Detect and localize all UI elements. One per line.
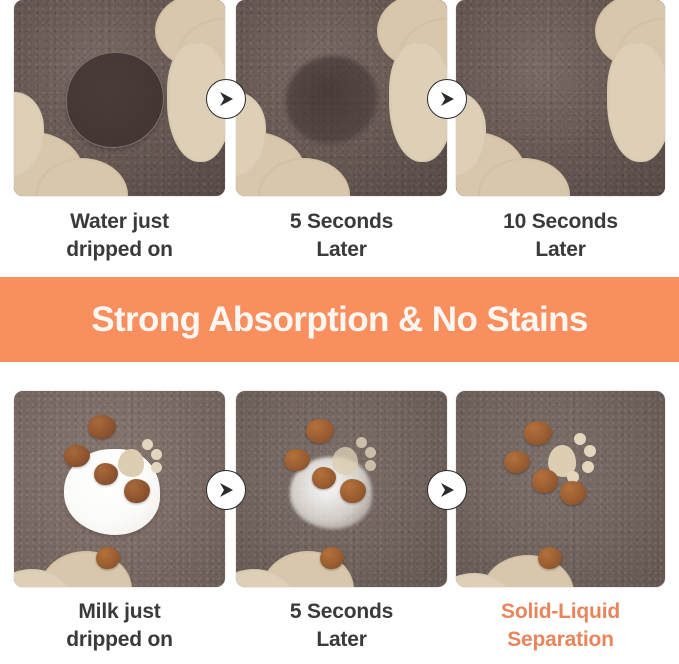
paw-pad (118, 449, 144, 477)
milk-sequence-captions: Milk just dripped on 5 Seconds Later Sol… (0, 598, 679, 664)
panel-water-just-dripped (14, 0, 225, 196)
water-sequence-captions: Water just dripped on 5 Seconds Later 10… (0, 208, 679, 274)
caption-line: Later (236, 626, 447, 654)
caption-line: 5 Seconds (236, 208, 447, 236)
caption-line: dripped on (14, 626, 225, 654)
panel-milk-5-seconds (236, 391, 447, 587)
caption-line: Later (236, 236, 447, 264)
paw-toe (584, 445, 596, 457)
bone-pattern-shape (607, 42, 665, 162)
paw-toe (151, 462, 162, 473)
play-arrow-icon (206, 79, 246, 119)
caption-line: Water just (14, 208, 225, 236)
paw-toe (356, 437, 367, 448)
headline-banner: Strong Absorption & No Stains (0, 277, 679, 362)
caption-line: Later (456, 236, 665, 264)
product-infographic: Water just dripped on 5 Seconds Later 10… (0, 0, 679, 655)
play-arrow-icon (427, 79, 467, 119)
water-absorption-sequence (0, 0, 679, 196)
headline-text: Strong Absorption & No Stains (91, 300, 588, 340)
panel-water-10-seconds (456, 0, 665, 196)
caption-milk-5-seconds: 5 Seconds Later (236, 598, 447, 654)
paw-toe (574, 433, 586, 445)
caption-water-just-dripped: Water just dripped on (14, 208, 225, 264)
caption-solid-liquid-separation: Solid-Liquid Separation (456, 598, 665, 654)
caption-line: 10 Seconds (456, 208, 665, 236)
caption-line: 5 Seconds (236, 598, 447, 626)
caption-line: Milk just (14, 598, 225, 626)
paw-toe (582, 461, 594, 473)
caption-water-5-seconds: 5 Seconds Later (236, 208, 447, 264)
paw-toe (365, 460, 376, 471)
paw-toe (142, 439, 153, 450)
caption-milk-just-dripped: Milk just dripped on (14, 598, 225, 654)
paw-toe (365, 447, 376, 458)
play-arrow-icon (427, 470, 467, 510)
panel-solid-liquid-separation (456, 391, 665, 587)
paw-toe (151, 449, 162, 460)
milk-separation-sequence (0, 391, 679, 587)
panel-milk-just-dripped (14, 391, 225, 587)
panel-water-5-seconds (236, 0, 447, 196)
caption-line: Separation (456, 626, 665, 654)
caption-line: Solid-Liquid (456, 598, 665, 626)
caption-water-10-seconds: 10 Seconds Later (456, 208, 665, 264)
caption-line: dripped on (14, 236, 225, 264)
paw-pad (332, 447, 358, 475)
play-arrow-icon (206, 470, 246, 510)
